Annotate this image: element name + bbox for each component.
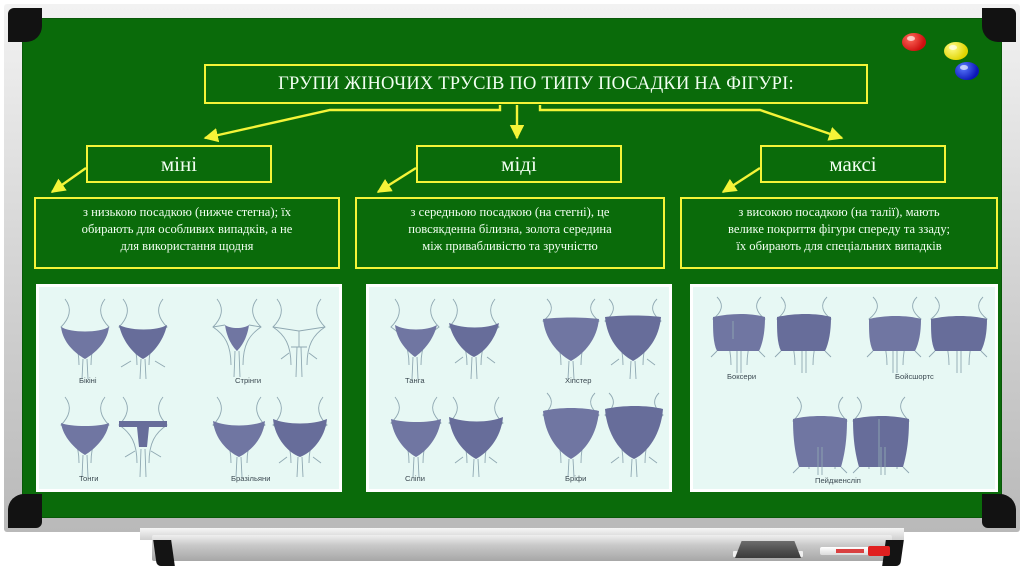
slide-root: ГРУПИ ЖІНОЧИХ ТРУСІВ ПО ТИПУ ПОСАДКИ НА …	[0, 0, 1024, 576]
figure-pagesleep-back	[853, 397, 909, 475]
magnet-red-icon[interactable]	[902, 33, 926, 51]
board-eraser-icon[interactable]	[735, 541, 801, 558]
figure-label: Бріфи	[565, 474, 586, 483]
figure-string-front	[213, 299, 261, 377]
illustration-panel-maxi: Боксери Бойсшортс	[690, 284, 998, 492]
description-line: між привабливістю та зручністю	[365, 238, 655, 255]
figure-brifi-back	[605, 393, 663, 477]
marker-cap	[868, 546, 890, 556]
figure-slipi-back	[449, 397, 503, 477]
description-line: їх обирають для спеціальних випадків	[690, 238, 988, 255]
figure-tongi-front	[61, 397, 109, 477]
figure-label: Тонги	[79, 474, 98, 483]
figure-label: Сліпи	[405, 474, 425, 483]
category-box-maxi[interactable]: максі	[760, 145, 946, 183]
board-corner-bottom-left	[8, 494, 42, 528]
figure-pagesleep-front	[793, 397, 847, 475]
description-box-midi: з середньою посадкою (на стегні), це пов…	[355, 197, 665, 269]
description-box-mini: з низькою посадкою (нижче стегна); їх об…	[34, 197, 340, 269]
category-box-midi[interactable]: міді	[416, 145, 622, 183]
description-line: велике покриття фігури спереду та ззаду;	[690, 221, 988, 238]
figure-label: Бікіні	[79, 376, 97, 385]
description-line: з середньою посадкою (на стегні), це	[365, 204, 655, 221]
figure-label: Боксери	[727, 372, 756, 381]
magnet-yellow-icon[interactable]	[944, 42, 968, 60]
board-corner-top-right	[982, 8, 1016, 42]
figure-brazilian-back	[273, 397, 327, 477]
page-title: ГРУПИ ЖІНОЧИХ ТРУСІВ ПО ТИПУ ПОСАДКИ НА …	[278, 74, 794, 95]
title-box: ГРУПИ ЖІНОЧИХ ТРУСІВ ПО ТИПУ ПОСАДКИ НА …	[204, 64, 868, 104]
figure-label: Пейдженсліп	[815, 476, 861, 485]
marker-band	[836, 549, 864, 553]
figure-string-back	[273, 299, 325, 377]
figure-brifi-front	[543, 393, 599, 477]
figure-boxers-front	[711, 297, 765, 373]
figure-tanga-back	[449, 299, 499, 379]
figure-brazilian-front	[213, 397, 265, 477]
figure-label: Стрінги	[235, 376, 261, 385]
figure-boxers-back	[775, 297, 831, 373]
description-line: обирають для особливих випадків, а не	[44, 221, 330, 238]
category-label-mini: міні	[161, 152, 197, 177]
figure-hipster-back	[605, 299, 661, 379]
category-label-maxi: максі	[829, 152, 876, 177]
description-line: з високою посадкою (на талії), мають	[690, 204, 988, 221]
figure-tongi-back	[119, 397, 167, 477]
category-label-midi: міді	[501, 152, 537, 177]
figure-label: Бразільяни	[231, 474, 270, 483]
description-line: для використання щодня	[44, 238, 330, 255]
illustration-panel-midi: Танга Хіпстер	[366, 284, 672, 492]
figure-bikini-back	[119, 299, 167, 379]
figure-boyshorts-front	[867, 297, 921, 373]
board-corner-bottom-right	[982, 494, 1016, 528]
figure-boyshorts-back	[929, 297, 987, 373]
figure-hipster-front	[543, 299, 599, 379]
board-corner-top-left	[8, 8, 42, 42]
figure-tanga-front	[391, 299, 439, 379]
tray-foot-left	[153, 540, 175, 566]
illustration-panel-mini: Бікіні Стрінги	[36, 284, 342, 492]
magnet-blue-icon[interactable]	[955, 62, 979, 80]
figure-label: Танга	[405, 376, 425, 385]
figure-bikini-front	[61, 299, 109, 379]
description-line: повсякденна білизна, золота середина	[365, 221, 655, 238]
figure-label: Бойсшортс	[895, 372, 934, 381]
figure-label: Хіпстер	[565, 376, 592, 385]
description-box-maxi: з високою посадкою (на талії), мають вел…	[680, 197, 998, 269]
figure-slipi-front	[391, 397, 441, 477]
description-line: з низькою посадкою (нижче стегна); їх	[44, 204, 330, 221]
category-box-mini[interactable]: міні	[86, 145, 272, 183]
